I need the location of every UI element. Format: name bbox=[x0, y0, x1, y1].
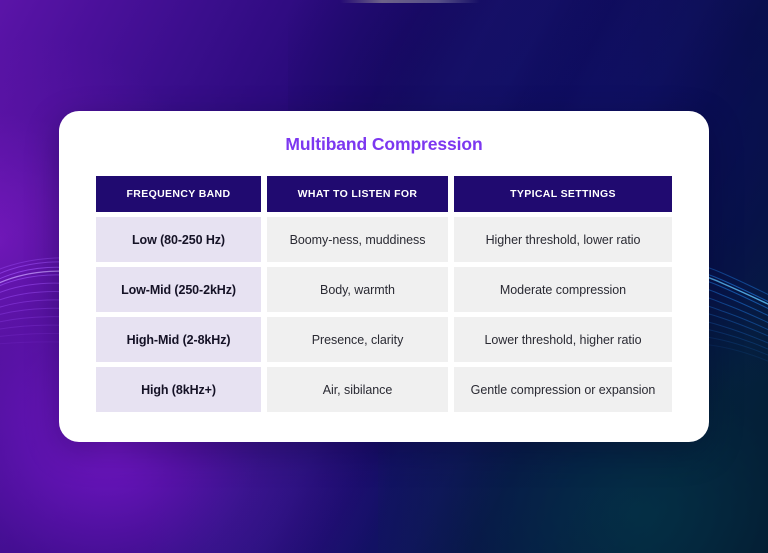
cell-typical-settings: Moderate compression bbox=[454, 267, 672, 312]
cell-frequency-band: Low-Mid (250-2kHz) bbox=[96, 267, 261, 312]
cell-what-to-listen-for: Presence, clarity bbox=[267, 317, 448, 362]
cell-typical-settings: Lower threshold, higher ratio bbox=[454, 317, 672, 362]
content-card: Multiband Compression FREQUENCY BAND WHA… bbox=[59, 111, 709, 442]
cell-what-to-listen-for: Body, warmth bbox=[267, 267, 448, 312]
table-row: Low (80-250 Hz) Boomy-ness, muddiness Hi… bbox=[96, 217, 672, 262]
cell-frequency-band: High (8kHz+) bbox=[96, 367, 261, 412]
cell-frequency-band: Low (80-250 Hz) bbox=[96, 217, 261, 262]
column-header-typical-settings: TYPICAL SETTINGS bbox=[454, 176, 672, 212]
cell-typical-settings: Gentle compression or expansion bbox=[454, 367, 672, 412]
column-header-what-to-listen-for: WHAT TO LISTEN FOR bbox=[267, 176, 448, 212]
table-row: High (8kHz+) Air, sibilance Gentle compr… bbox=[96, 367, 672, 412]
cell-typical-settings: Higher threshold, lower ratio bbox=[454, 217, 672, 262]
table-row: High-Mid (2-8kHz) Presence, clarity Lowe… bbox=[96, 317, 672, 362]
table-header-row: FREQUENCY BAND WHAT TO LISTEN FOR TYPICA… bbox=[96, 176, 672, 212]
multiband-compression-table: FREQUENCY BAND WHAT TO LISTEN FOR TYPICA… bbox=[96, 176, 672, 412]
page-title: Multiband Compression bbox=[59, 134, 709, 155]
table-row: Low-Mid (250-2kHz) Body, warmth Moderate… bbox=[96, 267, 672, 312]
cell-frequency-band: High-Mid (2-8kHz) bbox=[96, 317, 261, 362]
column-header-frequency-band: FREQUENCY BAND bbox=[96, 176, 261, 212]
top-edge-highlight-strip bbox=[340, 0, 480, 3]
cell-what-to-listen-for: Air, sibilance bbox=[267, 367, 448, 412]
cell-what-to-listen-for: Boomy-ness, muddiness bbox=[267, 217, 448, 262]
